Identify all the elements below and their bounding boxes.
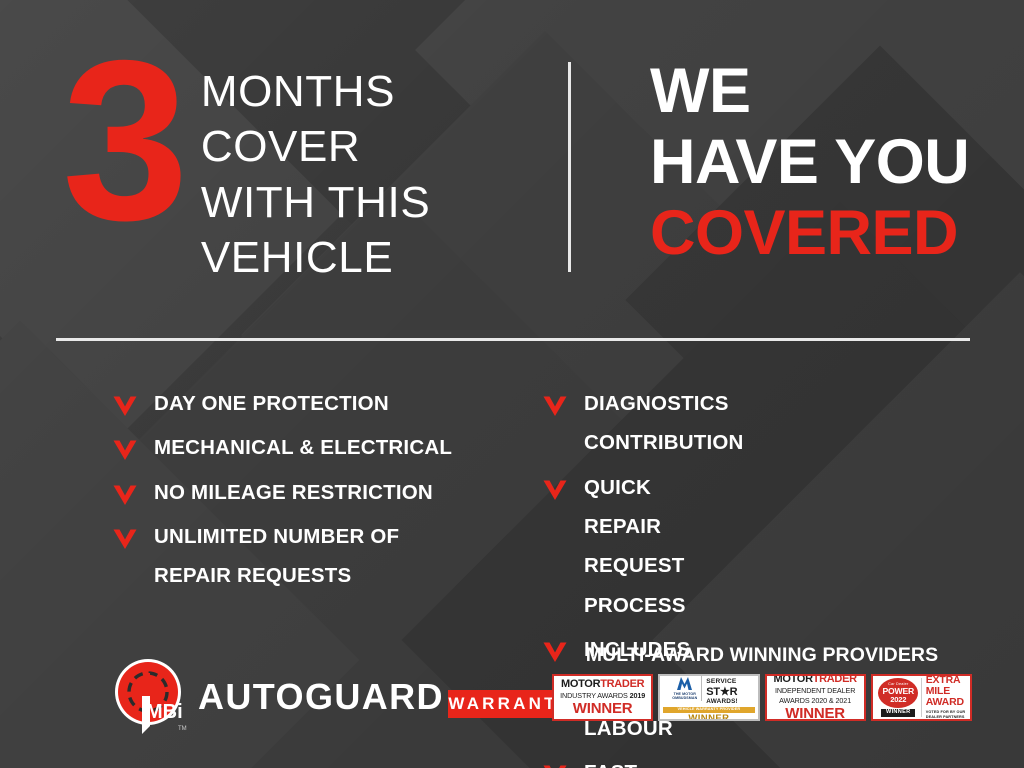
car-dealer-power-seal: Car Dealer POWER 2022 <box>878 678 918 708</box>
svg-text:TM: TM <box>178 726 187 732</box>
badge-brand-red: TRADER <box>600 678 644 690</box>
awards-section: MULTI-AWARD WINNING PROVIDERS MOTORTRADE… <box>552 644 972 721</box>
section-divider <box>56 338 970 341</box>
award-badge-car-dealer-power-extra-mile: Car Dealer POWER 2022 WINNER EXTRA MILE … <box>871 674 972 721</box>
motor-ombudsman-block: THE MOTOR OMBUDSMAN <box>672 676 702 701</box>
autoguard-name: AUTOGUARD <box>198 676 444 717</box>
badge-status: WINNER <box>785 706 845 721</box>
award-badge-motortrader-industry-2019: MOTORTRADER INDUSTRY AWARDS 2019 WINNER <box>552 674 653 721</box>
slogan-line-2: HAVE YOU <box>650 127 969 198</box>
badge-year: 2022 <box>890 696 906 704</box>
award-badge-customer-service-star: THE MOTOR OMBUDSMAN CUSTOMER SERVICE ST★… <box>658 674 759 721</box>
badge-subtitle: INDUSTRY AWARDS 2019 <box>560 692 645 699</box>
award-badge-motortrader-independent-dealer: MOTORTRADER INDEPENDENT DEALER AWARDS 20… <box>765 674 866 721</box>
cover-months-number: 3 <box>62 50 183 232</box>
check-icon <box>542 763 568 768</box>
check-icon <box>542 394 568 418</box>
badge-year: AWARDS 2020 & 2021 <box>779 697 851 704</box>
badge-subtitle: INDEPENDENT DEALER <box>775 687 855 694</box>
cover-caption-line-3: WITH THIS <box>201 175 430 230</box>
autoguard-logo: MBi TM AUTOGUARD WARRANTIES <box>112 656 595 736</box>
motor-ombudsman-icon <box>676 676 693 691</box>
badge-brand: MOTORTRADER <box>561 679 644 690</box>
badge-brand-red: TRADER <box>813 674 857 685</box>
badge-year: 2019 <box>630 691 646 700</box>
badge-status: WINNER <box>688 714 729 721</box>
badge-content: Car Dealer POWER 2022 WINNER EXTRA MILE … <box>876 678 967 717</box>
slogan-block: WE HAVE YOU COVERED <box>650 56 969 270</box>
feature-label: DIAGNOSTICS CONTRIBUTION <box>584 384 744 463</box>
cover-duration-block: 3 MONTHS COVER WITH THIS VEHICLE <box>0 48 510 286</box>
badge-status: WINNER <box>573 701 633 716</box>
badge-subtitle-text: INDUSTRY AWARDS <box>560 691 628 700</box>
extra-mile-award-block: EXTRA MILE AWARD VOTED FOR BY OUR DEALER… <box>922 675 967 720</box>
mbi-logo-icon: MBi TM <box>112 656 188 736</box>
car-dealer-power-block: Car Dealer POWER 2022 WINNER <box>876 678 922 717</box>
cover-caption: MONTHS COVER WITH THIS VEHICLE <box>201 48 430 286</box>
warranty-promo-banner: 3 MONTHS COVER WITH THIS VEHICLE WE HAVE… <box>0 0 1024 768</box>
headline-section: 3 MONTHS COVER WITH THIS VEHICLE WE HAVE… <box>0 48 1024 288</box>
badge-content: THE MOTOR OMBUDSMAN CUSTOMER SERVICE ST★… <box>663 674 754 705</box>
feature-label: QUICK REPAIR REQUEST PROCESS <box>584 468 686 625</box>
autoguard-wordmark: AUTOGUARD WARRANTIES <box>198 679 595 715</box>
badge-note: VOTED FOR BY OUR DEALER PARTNERS <box>926 710 967 720</box>
badge-brand-black: MOTOR <box>773 674 812 685</box>
cover-caption-line-1: MONTHS <box>201 64 430 119</box>
awards-title: MULTI-AWARD WINNING PROVIDERS <box>552 644 972 667</box>
awards-badge-row: MOTORTRADER INDUSTRY AWARDS 2019 WINNER <box>552 674 972 721</box>
badge-title-line-3: AWARD <box>926 697 967 708</box>
badge-line-2: SERVICE <box>706 679 745 686</box>
badge-brand-black: MOTOR <box>561 678 600 690</box>
motor-ombudsman-label: THE MOTOR OMBUDSMAN <box>672 692 697 701</box>
badge-status: WINNER <box>881 709 915 717</box>
slogan-line-3: COVERED <box>650 198 969 269</box>
badge-star-line: ST★R <box>706 687 745 698</box>
badge-line-4: AWARDS! <box>706 699 745 705</box>
headline-vertical-divider <box>568 62 571 272</box>
cover-caption-line-4: VEHICLE <box>201 230 430 285</box>
slogan-line-1: WE <box>650 56 969 127</box>
check-icon <box>542 478 568 502</box>
cover-caption-line-2: COVER <box>201 119 430 174</box>
star-awards-block: CUSTOMER SERVICE ST★R AWARDS! <box>702 674 745 705</box>
feature-label: FAST PAYMENT OF REPAIR REQUESTS <box>584 753 698 768</box>
svg-text:MBi: MBi <box>146 701 183 723</box>
badge-brand: MOTORTRADER <box>773 674 856 685</box>
